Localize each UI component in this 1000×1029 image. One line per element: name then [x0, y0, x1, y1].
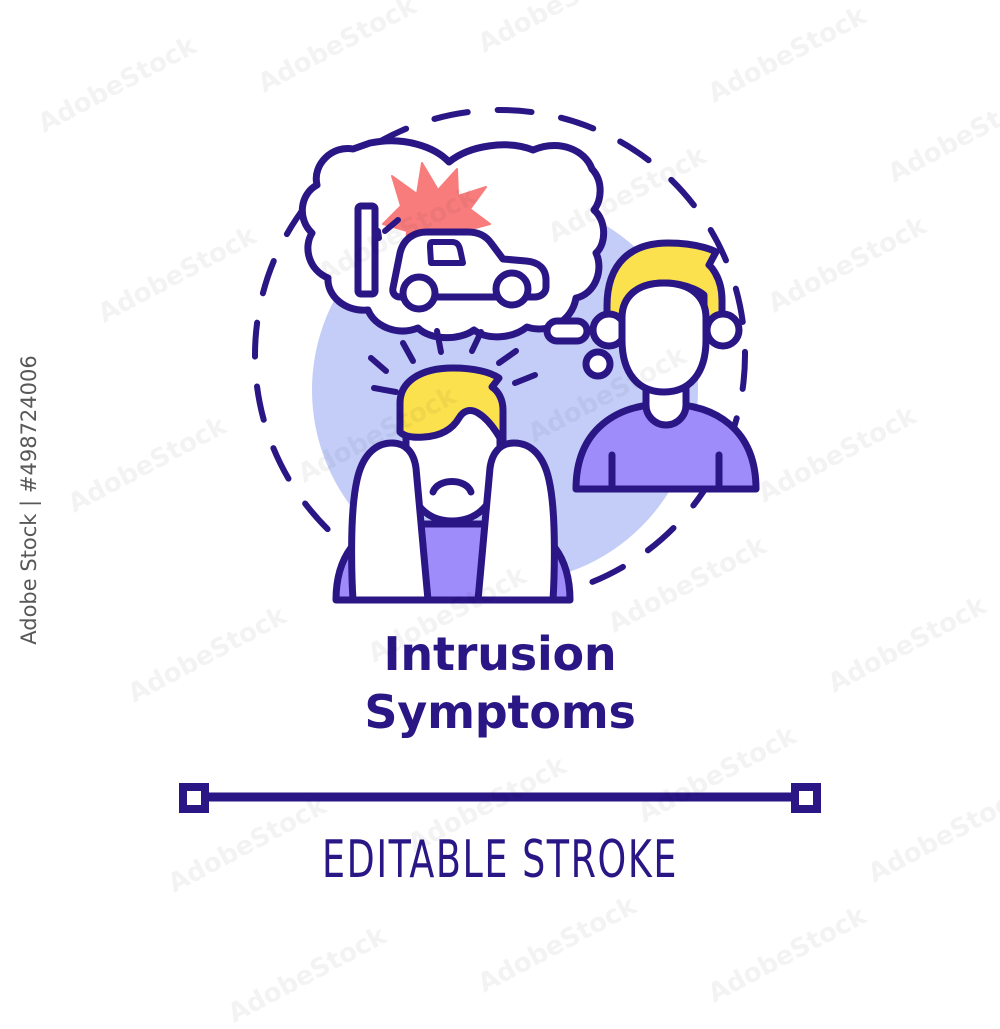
hand-right	[478, 443, 554, 600]
stroke-handle-left[interactable]	[183, 787, 205, 809]
concept-icon-canvas: Intrusion Symptoms EDITABLE STROKE Adobe…	[0, 0, 1000, 1000]
stroke-handle-right[interactable]	[795, 787, 817, 809]
stroke-bar-svg	[0, 770, 1000, 830]
watermark-tile: AdobeStock	[703, 901, 871, 1009]
editable-stroke-caption: EDITABLE STROKE	[110, 830, 890, 890]
title-line-2: Symptoms	[0, 683, 1000, 741]
hand-left	[352, 443, 428, 600]
car-window	[430, 242, 463, 263]
car-wheel-rear	[496, 273, 528, 305]
concept-illustration	[0, 0, 1000, 620]
watermark-tile: AdobeStock	[223, 921, 391, 1029]
crash-tick-1	[378, 231, 379, 238]
concept-title: Intrusion Symptoms	[0, 625, 1000, 741]
crash-wall	[358, 206, 375, 294]
illustration-svg	[0, 0, 1000, 620]
bystander-ear-right	[707, 314, 739, 346]
bystander-face	[622, 283, 706, 392]
ray-4	[437, 331, 441, 352]
title-line-1: Intrusion	[0, 625, 1000, 683]
bubble-trail-large	[547, 321, 587, 341]
bubble-trail-small	[586, 352, 610, 376]
watermark-tile: AdobeStock	[473, 891, 641, 999]
editable-stroke-block: EDITABLE STROKE	[0, 770, 1000, 835]
ray-2	[374, 388, 396, 392]
car-wheel-front	[403, 277, 435, 309]
